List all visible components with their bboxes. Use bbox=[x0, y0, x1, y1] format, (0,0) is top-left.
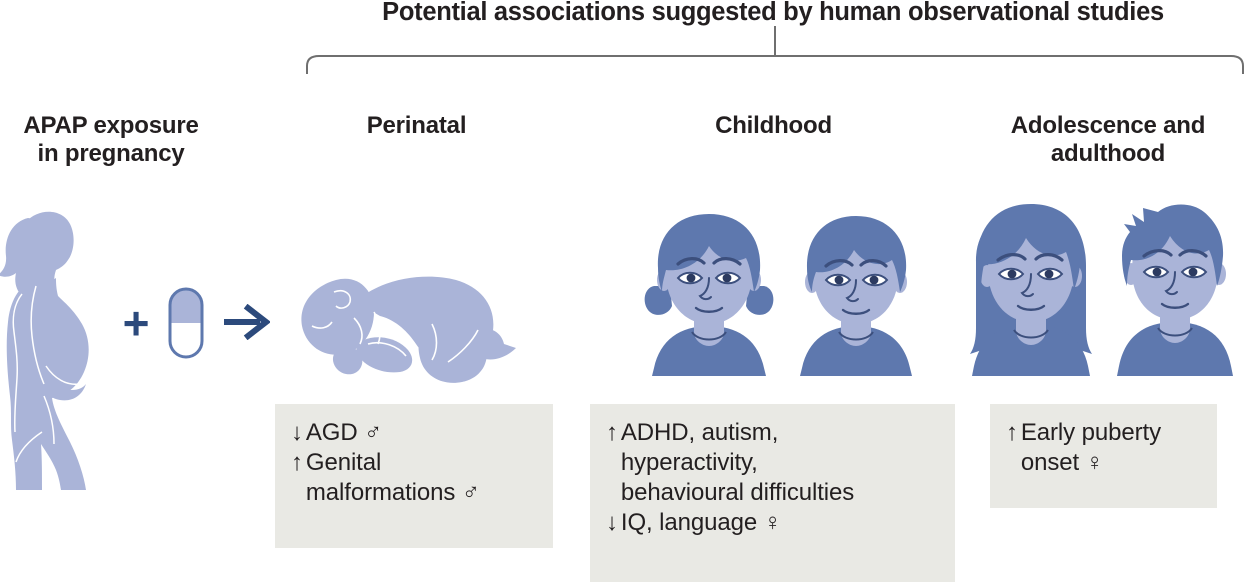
finding-text: IQ, language ♀ bbox=[621, 509, 782, 536]
finding-line: behavioural difficulties bbox=[606, 478, 945, 508]
finding-line: ↓AGD ♂ bbox=[291, 418, 539, 448]
column-heading-childhood: Childhood bbox=[592, 112, 955, 140]
column-heading-perinatal: Perinatal bbox=[275, 112, 558, 140]
heading-line-1: APAP exposure bbox=[23, 112, 198, 139]
finding-text: AGD ♂ bbox=[306, 419, 382, 446]
finding-text: onset ♀ bbox=[1021, 449, 1104, 476]
up-arrow-icon: ↑ bbox=[291, 448, 306, 478]
finding-text: ADHD, autism, bbox=[621, 419, 778, 446]
findings-box-childhood: ↑ADHD, autism, hyperactivity, behavioura… bbox=[590, 404, 955, 582]
girl-face-icon bbox=[642, 208, 776, 376]
column-heading-adolescence: Adolescence and adulthood bbox=[975, 112, 1241, 168]
capsule-pill-icon bbox=[168, 287, 204, 359]
finding-text: Genital bbox=[306, 449, 381, 476]
young-woman-face-icon bbox=[962, 200, 1100, 376]
down-arrow-icon: ↓ bbox=[291, 418, 306, 448]
findings-box-perinatal: ↓AGD ♂ ↑Genital malformations ♂ bbox=[275, 404, 553, 548]
plus-sign-icon: + bbox=[113, 300, 159, 346]
right-arrow-icon bbox=[222, 304, 270, 340]
bracket-connector bbox=[305, 26, 1245, 74]
up-arrow-icon: ↑ bbox=[606, 418, 621, 448]
down-arrow-icon: ↓ bbox=[606, 508, 621, 538]
column-heading-exposure: APAP exposure in pregnancy bbox=[0, 112, 224, 168]
finding-text: hyperactivity, bbox=[621, 449, 758, 476]
finding-text: behavioural difficulties bbox=[621, 479, 854, 506]
page-title: Potential associations suggested by huma… bbox=[300, 0, 1246, 27]
heading-line-2: adulthood bbox=[1051, 140, 1165, 167]
finding-line: ↑ADHD, autism, bbox=[606, 418, 945, 448]
heading-line-1: Adolescence and bbox=[1011, 112, 1205, 139]
findings-box-adolescence: ↑Early puberty onset ♀ bbox=[990, 404, 1217, 508]
young-man-face-icon bbox=[1110, 200, 1240, 376]
figure-canvas: Potential associations suggested by huma… bbox=[0, 0, 1246, 582]
finding-line: hyperactivity, bbox=[606, 448, 945, 478]
finding-line: onset ♀ bbox=[1006, 448, 1207, 478]
finding-line: ↓IQ, language ♀ bbox=[606, 508, 945, 538]
finding-text: malformations ♂ bbox=[306, 479, 480, 506]
finding-text: Early puberty bbox=[1021, 419, 1161, 446]
finding-line: ↑Early puberty bbox=[1006, 418, 1207, 448]
up-arrow-icon: ↑ bbox=[1006, 418, 1021, 448]
heading-line-2: in pregnancy bbox=[38, 140, 185, 167]
sleeping-baby-icon bbox=[276, 258, 544, 388]
finding-line: ↑Genital bbox=[291, 448, 539, 478]
finding-line: malformations ♂ bbox=[291, 478, 539, 508]
boy-face-icon bbox=[794, 212, 918, 376]
